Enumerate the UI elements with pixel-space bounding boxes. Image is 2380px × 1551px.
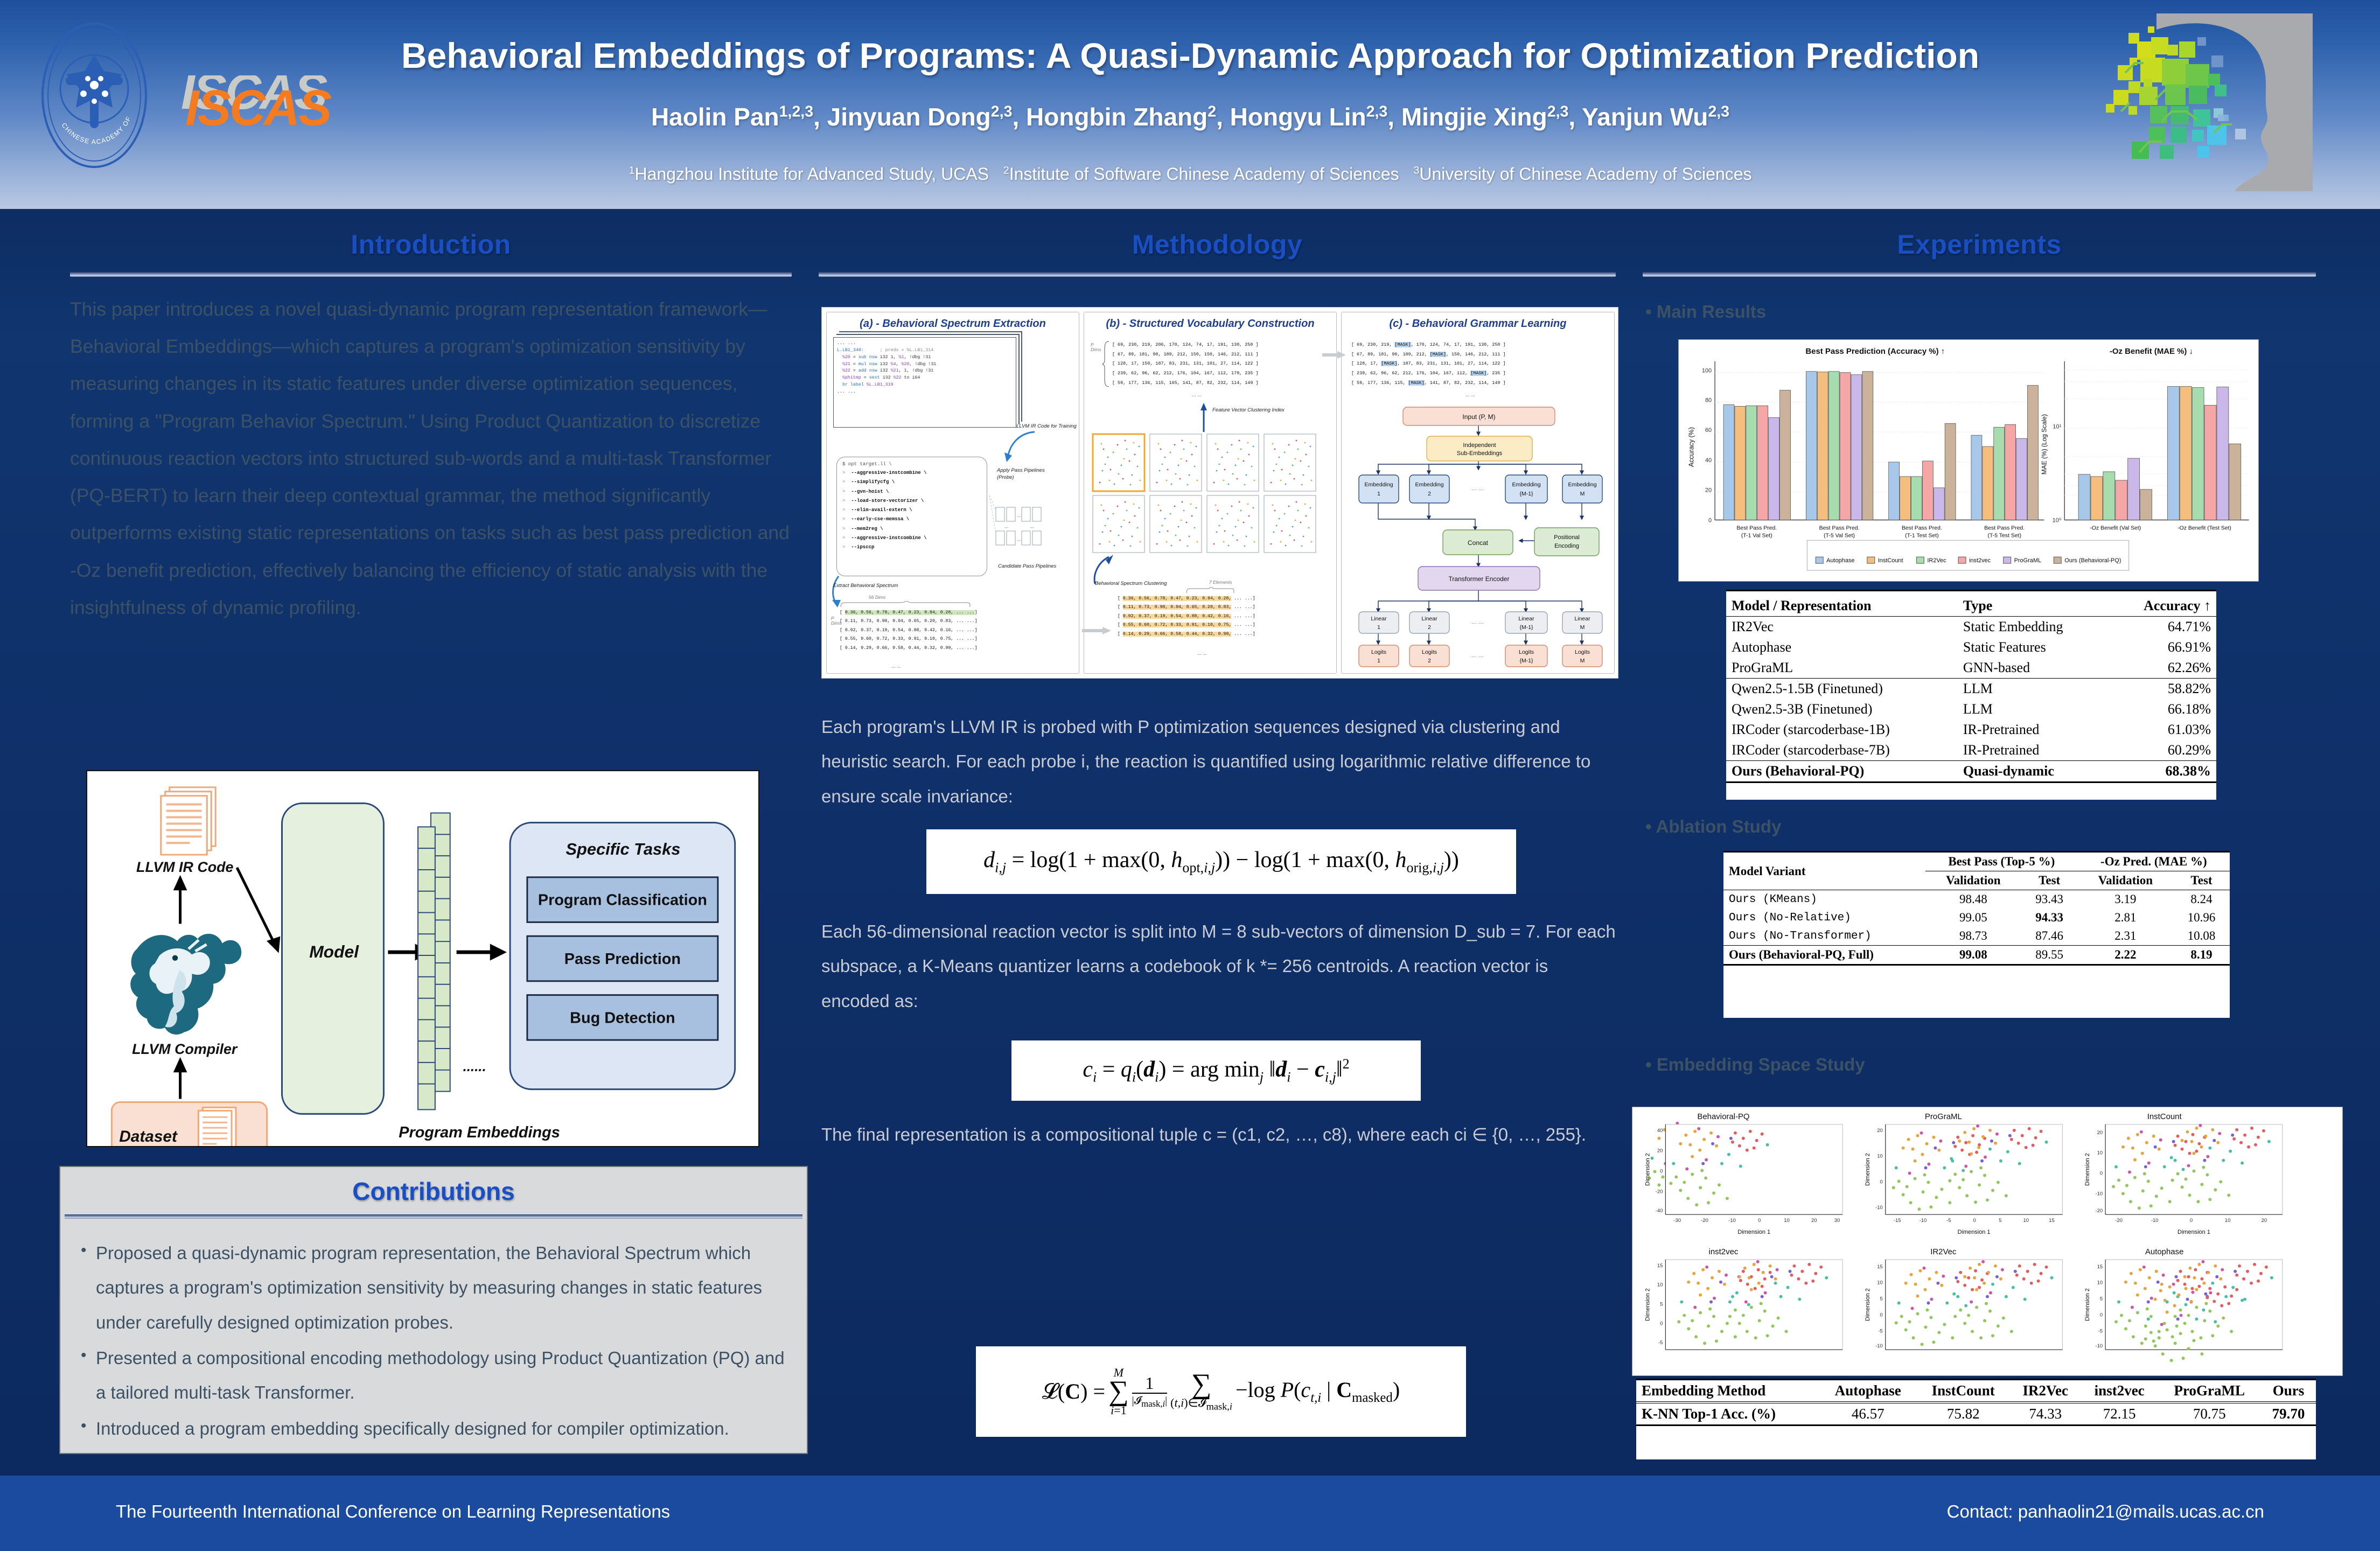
- table-row: AutophaseStatic Features66.91%: [1726, 637, 2216, 658]
- chart2-ylabel: MAE (%) (Log Scale): [2040, 414, 2048, 474]
- knn-table-panel: Embedding Method Autophase InstCount IR2…: [1636, 1379, 2316, 1459]
- svg-text:InstCount: InstCount: [2147, 1112, 2182, 1121]
- panel-b-ellipsis-bottom: ... ...: [1197, 651, 1207, 656]
- label-llvm-compiler: LLVM Compiler: [132, 1041, 238, 1057]
- methodology-panel-c: (c) - Behavioral Grammar Learning [ 69, …: [1341, 312, 1615, 674]
- table-row-highlight: Ours (Behavioral-PQ) Quasi-dynamic 68.38…: [1726, 761, 2216, 783]
- methodology-text-2: Each 56-dimensional reaction vector is s…: [821, 914, 1618, 1018]
- svg-text:15: 15: [2097, 1264, 2103, 1270]
- formula-loss: 𝓛(C) = M ∑ i=1 1 |𝓘mask,i| ∑ (t,i)∈𝓘mask…: [976, 1346, 1466, 1437]
- svg-text:Logits: Logits: [1575, 649, 1590, 655]
- svg-text:60: 60: [1705, 427, 1712, 434]
- svg-text:Dimension 1: Dimension 1: [2177, 1229, 2210, 1235]
- svg-text:Best Pass Pred.: Best Pass Pred.: [1819, 525, 1860, 531]
- svg-text:IR2Vec: IR2Vec: [1930, 1247, 1957, 1256]
- svg-text:10: 10: [1877, 1154, 1883, 1159]
- table-row: IRCoder (starcoderbase-7B)IR-Pretrained6…: [1726, 740, 2216, 761]
- methodology-panel-a: (a) - Behavioral Spectrum Extraction ...…: [826, 312, 1079, 674]
- arrow-cluster-index: [1198, 402, 1209, 432]
- svg-text:10: 10: [2097, 1280, 2103, 1286]
- svg-text:0: 0: [1880, 1179, 1883, 1185]
- task-item-program-classification: Program Classification: [527, 877, 718, 923]
- svg-text:ProGraML: ProGraML: [2014, 557, 2041, 564]
- contributions-panel: Contributions Proposed a quasi-dynamic p…: [59, 1166, 808, 1454]
- arrow-embeddings-to-tasks: [457, 947, 503, 958]
- panel-c-title: (c) - Behavioral Grammar Learning: [1342, 318, 1614, 330]
- table-row: Qwen2.5-1.5B (Finetuned)LLM58.82%: [1726, 679, 2216, 699]
- list-item: Proposed a quasi-dynamic program represe…: [76, 1236, 787, 1340]
- svg-text:10: 10: [1784, 1218, 1790, 1224]
- svg-text:Autophase: Autophase: [2145, 1247, 2183, 1256]
- svg-text:5: 5: [1999, 1218, 2001, 1224]
- svg-text:{M-1}: {M-1}: [1519, 491, 1533, 497]
- svg-text:inst2vec: inst2vec: [1969, 557, 1991, 564]
- panel-b-vocab-rows: [ 69, 230, 219, 206, 170, 124, 74, 17, 1…: [1112, 340, 1258, 388]
- contributions-title: Contributions: [60, 1177, 807, 1206]
- arrow-bc-link: [1322, 351, 1347, 359]
- col-header-prograML: ProGraML: [2158, 1380, 2261, 1402]
- svg-text:M: M: [1580, 491, 1585, 497]
- col-header-test-1: Test: [2021, 871, 2078, 890]
- svg-text:Dimension 2: Dimension 2: [1645, 1288, 1651, 1321]
- col-group-best-pass: Best Pass (Top-5 %): [1925, 853, 2078, 871]
- brace-7elements: [1184, 587, 1238, 593]
- tsne-grid-svg: Behavioral-PQ Dimension 2 Dimension 1 -3…: [1632, 1107, 2342, 1375]
- svg-text:(T-1 Test Set): (T-1 Test Set): [1905, 533, 1938, 539]
- svg-text:Dimension 1: Dimension 1: [1737, 1229, 1770, 1235]
- table-row: ProGraMLGNN-based62.26%: [1726, 658, 2216, 679]
- col-header-ours: Ours: [2261, 1380, 2316, 1402]
- col-header-val-2: Validation: [2078, 871, 2173, 890]
- experiments-bullet-ablation-study: Ablation Study: [1645, 816, 1781, 837]
- iscas-logo: ISCAS ISCAS: [178, 75, 350, 137]
- svg-text:0: 0: [2100, 1312, 2103, 1318]
- svg-text:Logits: Logits: [1371, 649, 1386, 655]
- label-model: Model: [309, 942, 359, 961]
- svg-text:-Oz Benefit (Val Set): -Oz Benefit (Val Set): [2090, 525, 2141, 531]
- svg-text:20: 20: [1657, 1148, 1663, 1154]
- svg-text:M: M: [1580, 624, 1585, 631]
- svg-text:15: 15: [1657, 1263, 1663, 1269]
- svg-text:-20: -20: [1656, 1189, 1663, 1194]
- knn-table: Embedding Method Autophase InstCount IR2…: [1636, 1379, 2316, 1426]
- experiments-bullet-embedding-space: Embedding Space Study: [1645, 1054, 1865, 1075]
- svg-text:Linear: Linear: [1371, 616, 1387, 622]
- chart1-ylabel: Accuracy (%): [1687, 427, 1695, 467]
- methodology-text-3: The final representation is a compositio…: [821, 1117, 1618, 1152]
- col-header-type: Type: [1958, 596, 2110, 617]
- author-list: Haolin Pan1,2,3, Jinyuan Dong2,3, Hongbi…: [345, 102, 2036, 131]
- section-heading-experiments: Experiments: [1643, 229, 2316, 260]
- panel-b-ellipsis-top: ... ...: [1192, 392, 1202, 397]
- col-header-val-1: Validation: [1925, 871, 2021, 890]
- footer-contact: Contact: panhaolin21@mails.ucas.ac.cn: [1947, 1501, 2264, 1522]
- list-item: Presented a compositional encoding metho…: [76, 1341, 787, 1410]
- list-item: Introduced a program embedding specifica…: [76, 1412, 787, 1446]
- poster-root: CHINESE ACADEMY OF SCIENCES ISCAS ISCAS: [0, 0, 2380, 1551]
- svg-text:IR2Vec: IR2Vec: [1927, 557, 1946, 564]
- svg-text:5: 5: [1660, 1302, 1663, 1308]
- svg-text:{M-1}: {M-1}: [1519, 658, 1533, 664]
- svg-text:2: 2: [1428, 658, 1431, 664]
- panel-a-title: (a) - Behavioral Spectrum Extraction: [827, 318, 1079, 330]
- svg-text:M: M: [1580, 658, 1585, 664]
- methodology-panel-b: (b) - Structured Vocabulary Construction…: [1084, 312, 1337, 674]
- panel-c-ellipsis: ... ...: [1465, 392, 1475, 397]
- affiliation-list: 1Hangzhou Institute for Advanced Study, …: [345, 164, 2036, 184]
- methodology-text-1: Each program's LLVM IR is probed with P …: [821, 710, 1618, 814]
- svg-text:Dimension 1: Dimension 1: [1958, 1229, 1991, 1235]
- svg-text:10: 10: [1877, 1280, 1883, 1286]
- panel-a-extract-label: Extract Behavioral Spectrum: [833, 583, 925, 589]
- svg-text:-20: -20: [1701, 1218, 1708, 1224]
- svg-text:Dimension 2: Dimension 2: [1645, 1153, 1651, 1186]
- llvm-dragon-icon: [130, 934, 241, 1035]
- svg-text:Independent: Independent: [1463, 442, 1496, 449]
- svg-text:1: 1: [1377, 658, 1380, 664]
- task-item-pass-prediction: Pass Prediction: [527, 936, 718, 981]
- chart2-group-2: [2167, 387, 2241, 520]
- svg-text:0: 0: [1660, 1169, 1663, 1175]
- svg-text:Best Pass Pred.: Best Pass Pred.: [1902, 525, 1942, 531]
- col-header-ir2vec: IR2Vec: [2010, 1380, 2081, 1402]
- main-results-table: Model / Representation Type Accuracy ↑ I…: [1726, 590, 2216, 783]
- row-label-knn: K-NN Top-1 Acc. (%): [1636, 1403, 1819, 1426]
- svg-text:Logits: Logits: [1519, 649, 1534, 655]
- svg-text:0: 0: [1708, 517, 1712, 523]
- svg-text:-5: -5: [2098, 1328, 2103, 1334]
- svg-text:1: 1: [1377, 491, 1380, 497]
- svg-text:Input (P, M): Input (P, M): [1462, 413, 1495, 421]
- contributions-list: Proposed a quasi-dynamic program represe…: [76, 1236, 787, 1447]
- svg-text:Transformer Encoder: Transformer Encoder: [1449, 575, 1510, 583]
- methodology-figure-panel: (a) - Behavioral Spectrum Extraction ...…: [821, 307, 1618, 679]
- svg-text:20: 20: [1705, 487, 1712, 494]
- svg-text:Autophase: Autophase: [1826, 557, 1854, 564]
- page-title: Behavioral Embeddings of Programs: A Qua…: [345, 37, 2036, 75]
- svg-text:Pass Prediction: Pass Prediction: [564, 951, 681, 968]
- svg-text:-5: -5: [1946, 1218, 1951, 1224]
- main-results-chart: Best Pass Prediction (Accuracy %) ↑ 0204…: [1678, 339, 2259, 582]
- svg-text:Dimension 2: Dimension 2: [1865, 1288, 1871, 1321]
- tsne-panel-ir2vec: IR2Vec Dimension 2 15105 0-5-10: [1865, 1247, 2063, 1350]
- col-header-instcount: InstCount: [1917, 1380, 2010, 1402]
- divider-contributions: [65, 1214, 802, 1219]
- divider-methodology: [819, 272, 1616, 277]
- svg-text:Program Classification: Program Classification: [538, 892, 707, 909]
- divider-experiments: [1643, 272, 2316, 277]
- svg-text:-20: -20: [2115, 1218, 2123, 1224]
- svg-text:Best Pass Pred.: Best Pass Pred.: [1984, 525, 2025, 531]
- formula-reaction-difference: di,j = log(1 + max(0, hopt,i,j)) − log(1…: [926, 829, 1516, 894]
- brace-56dims: [837, 601, 978, 607]
- svg-text:20: 20: [2262, 1218, 2267, 1224]
- dataset-doc-icon: [198, 1107, 236, 1146]
- section-heading-methodology: Methodology: [819, 229, 1616, 260]
- table-header-row: Embedding Method Autophase InstCount IR2…: [1636, 1380, 2316, 1402]
- chart-legend: Autophase InstCount IR2Vec inst2vec ProG…: [1807, 540, 2128, 570]
- panel-c-architecture: Input (P, M) Independent Sub-Embeddings …: [1348, 405, 1609, 671]
- svg-text:-40: -40: [1656, 1208, 1663, 1214]
- svg-text:20: 20: [1877, 1128, 1883, 1134]
- svg-text:...: ...: [1017, 513, 1021, 518]
- svg-text:0: 0: [1880, 1312, 1883, 1318]
- svg-text:Linear: Linear: [1421, 616, 1437, 622]
- svg-text:Positional: Positional: [1554, 534, 1580, 541]
- panel-b-cluster-label: Behavioral Spectrum Clustering: [1095, 581, 1197, 586]
- svg-text:(T-5 Val Set): (T-5 Val Set): [1824, 533, 1855, 539]
- table-row: Ours (No-Transformer) 98.73 87.46 2.31 1…: [1723, 927, 2230, 946]
- svg-text:10¹: 10¹: [2053, 423, 2061, 430]
- col-header-autophase: Autophase: [1819, 1380, 1917, 1402]
- pipeline-figure-panel: LLVM IR Code LLVM Compiler: [86, 770, 759, 1147]
- arrow-dataset-to-compiler: [176, 1060, 185, 1099]
- arrow-ab-link: [1082, 627, 1112, 634]
- poster-footer: The Fourteenth International Conference …: [0, 1476, 2380, 1551]
- experiments-bullet-main-results: Main Results: [1645, 302, 1766, 322]
- formula-quantizer: ci = qi(di) = arg minj ‖di − ci,j‖2: [1011, 1040, 1421, 1101]
- svg-text:0: 0: [2190, 1218, 2193, 1224]
- arrow-ir-to-model: [237, 868, 279, 950]
- tsne-panel-inst2vec: inst2vec Dimension 2 15105 0-5: [1645, 1247, 1843, 1350]
- svg-text:Sub-Embeddings: Sub-Embeddings: [1457, 450, 1503, 457]
- svg-text:...: ...: [1004, 523, 1009, 529]
- panel-a-ellipsis: ... ...: [891, 663, 901, 669]
- svg-text:20: 20: [2097, 1130, 2103, 1136]
- svg-text:100: 100: [1702, 368, 1712, 374]
- svg-text:20: 20: [1811, 1218, 1817, 1224]
- svg-text:-10: -10: [2095, 1343, 2103, 1349]
- svg-text:Encoding: Encoding: [1554, 543, 1579, 549]
- svg-text:0: 0: [2100, 1170, 2103, 1176]
- cas-logo: CHINESE ACADEMY OF SCIENCES: [40, 22, 148, 170]
- tsne-panel-prograML: ProGraML Dimension 2 Dimension 1 -15-10-…: [1865, 1112, 2063, 1235]
- panel-b-spectrum-rows: [ 0.36, 0.56, 0.78, 0.47, 0.23, 0.94, 0.…: [1118, 595, 1255, 639]
- bar-charts-svg: Best Pass Prediction (Accuracy %) ↑ 0204…: [1679, 340, 2258, 581]
- label-dataset-ext: .c: [239, 1143, 251, 1146]
- svg-text:10: 10: [1657, 1282, 1663, 1288]
- divider-introduction: [70, 272, 792, 277]
- svg-text:-Oz Benefit (Test Set): -Oz Benefit (Test Set): [2177, 525, 2231, 531]
- panel-a-spectrum-rows: [ 0.36, 0.56, 0.78, 0.47, 0.23, 0.94, 0.…: [840, 609, 978, 653]
- pipeline-figure: LLVM IR Code LLVM Compiler: [87, 771, 758, 1146]
- svg-text:40: 40: [1705, 457, 1712, 464]
- svg-text:Linear: Linear: [1518, 616, 1534, 622]
- svg-text:(T-1 Val Set): (T-1 Val Set): [1741, 533, 1772, 539]
- task-item-bug-detection: Bug Detection: [527, 995, 718, 1040]
- svg-text:1: 1: [1377, 624, 1380, 631]
- embedding-space-charts: Behavioral-PQ Dimension 2 Dimension 1 -3…: [1632, 1107, 2343, 1376]
- svg-text:Dimension 2: Dimension 2: [2084, 1288, 2091, 1321]
- svg-text:(T-5 Test Set): (T-5 Test Set): [1987, 533, 2021, 539]
- table-row: Ours (KMeans) 98.48 93.43 3.19 8.24: [1723, 890, 2230, 909]
- svg-text:...: ...: [1030, 523, 1035, 529]
- svg-text:-10: -10: [1728, 1218, 1736, 1224]
- svg-text:Embedding: Embedding: [1512, 481, 1540, 488]
- dataset-box: Dataset .c: [111, 1102, 267, 1146]
- brace-pdims-b: [1101, 340, 1110, 388]
- svg-text:Linear: Linear: [1574, 616, 1590, 622]
- col-header-embedding-method: Embedding Method: [1636, 1380, 1819, 1402]
- chart2-xticks: -Oz Benefit (Val Set) -Oz Benefit (Test …: [2090, 525, 2231, 531]
- svg-text:-10: -10: [1875, 1205, 1883, 1211]
- table-row: Ours (No-Relative) 99.05 94.33 2.81 10.9…: [1723, 909, 2230, 927]
- main-results-table-panel: Model / Representation Type Accuracy ↑ I…: [1726, 590, 2216, 800]
- svg-text:ISCAS: ISCAS: [185, 80, 332, 136]
- panel-a-dims-label: 56 Dims: [869, 595, 885, 600]
- chart1-group-2: [1806, 372, 1873, 520]
- svg-text:inst2vec: inst2vec: [1709, 1247, 1739, 1256]
- svg-text:10: 10: [2023, 1218, 2029, 1224]
- svg-text:··· ···: ··· ···: [1471, 654, 1484, 660]
- poster-header: CHINESE ACADEMY OF SCIENCES ISCAS ISCAS: [0, 0, 2380, 209]
- svg-text:40: 40: [1657, 1128, 1663, 1134]
- svg-text:··· ···: ··· ···: [1471, 487, 1484, 493]
- tsne-panel-instcount: InstCount Dimension 2 Dimension 1 -20-10…: [2084, 1112, 2283, 1235]
- label-embeddings-ellipsis: ......: [463, 1059, 486, 1074]
- tsne-panel-behavioral-pq: Behavioral-PQ Dimension 2 Dimension 1 -3…: [1645, 1112, 1843, 1235]
- svg-text:0: 0: [1973, 1218, 1976, 1224]
- svg-text:30: 30: [1834, 1218, 1840, 1224]
- svg-text:5: 5: [1880, 1296, 1883, 1302]
- chart1-group-4: [1971, 386, 2038, 520]
- svg-text:Embedding: Embedding: [1364, 481, 1393, 488]
- label-llvm-ir-code: LLVM IR Code: [136, 859, 233, 875]
- col-group-oz-pred: -Oz Pred. (MAE %): [2078, 853, 2230, 871]
- panel-a-ir-code: ... ... L.LB1_349: ; preds = %L.LB1_314 …: [834, 338, 1016, 399]
- svg-text:InstCount: InstCount: [1878, 557, 1903, 564]
- svg-text:2: 2: [1428, 491, 1431, 497]
- chart1-group-3: [1889, 423, 1956, 520]
- svg-text:{M-1}: {M-1}: [1519, 624, 1533, 631]
- col-header-inst2vec: inst2vec: [2081, 1380, 2158, 1402]
- table-row: IR2VecStatic Embedding64.71%: [1726, 617, 2216, 637]
- llvm-ir-doc-icon: [161, 787, 215, 855]
- svg-text:...: ...: [1017, 536, 1021, 542]
- candidate-pipeline-boxes: ... ... ... ...: [988, 490, 1074, 560]
- svg-text:Behavioral-PQ: Behavioral-PQ: [1697, 1112, 1749, 1121]
- iclr-logo: [2081, 13, 2313, 197]
- svg-text:10⁰: 10⁰: [2053, 517, 2062, 523]
- svg-text:15: 15: [1877, 1264, 1883, 1270]
- svg-text:Ours (Behavioral-PQ): Ours (Behavioral-PQ): [2064, 557, 2121, 564]
- panel-a-candidate-label: Candidate Pass Pipelines: [998, 563, 1068, 569]
- svg-text:10: 10: [2225, 1218, 2231, 1224]
- svg-text:-15: -15: [1894, 1218, 1901, 1224]
- svg-text:0: 0: [1758, 1218, 1761, 1224]
- introduction-paragraph: This paper introduces a novel quasi-dyna…: [70, 291, 792, 626]
- footer-conference: The Fourteenth International Conference …: [116, 1501, 670, 1522]
- svg-text:-30: -30: [1673, 1218, 1681, 1224]
- table-row-highlight: Ours (Behavioral-PQ, Full) 99.08 89.55 2…: [1723, 946, 2230, 965]
- panel-c-masked-rows: [ 69, 230, 219, [MASK], 170, 124, 74, 17…: [1351, 340, 1506, 388]
- svg-text:5: 5: [2100, 1296, 2103, 1302]
- svg-text:Best Pass Pred.: Best Pass Pred.: [1736, 525, 1777, 531]
- svg-text:··· ···: ··· ···: [1471, 620, 1484, 626]
- chart2-title: -Oz Benefit (MAE %) ↓: [2110, 347, 2193, 356]
- svg-text:-5: -5: [1878, 1328, 1882, 1334]
- ablation-table-panel: Model Variant Best Pass (Top-5 %) -Oz Pr…: [1723, 851, 2230, 1018]
- panel-b-elements-label: 7 Elements: [1209, 579, 1232, 585]
- cluster-thumbnails: [1092, 433, 1329, 555]
- svg-text:ProGraML: ProGraML: [1925, 1112, 1962, 1121]
- label-program-embeddings: Program Embeddings: [399, 1124, 560, 1141]
- svg-text:-10: -10: [2095, 1191, 2103, 1197]
- svg-text:10: 10: [2097, 1150, 2103, 1156]
- chart1-xticks: Best Pass Pred.(T-1 Val Set) Best Pass P…: [1736, 525, 2025, 539]
- section-heading-introduction: Introduction: [70, 229, 792, 260]
- arrow-compiler-to-ir: [176, 878, 185, 924]
- panel-a-apply-label: Apply Pass Pipelines (Probe): [997, 467, 1057, 481]
- arrow-ir-to-opt: [1003, 430, 1041, 463]
- table-header-row: Model / Representation Type Accuracy ↑: [1726, 596, 2216, 617]
- svg-text:15: 15: [2049, 1218, 2055, 1224]
- svg-text:Logits: Logits: [1422, 649, 1437, 655]
- chart1-title: Best Pass Prediction (Accuracy %) ↑: [1805, 347, 1945, 356]
- col-header-model: Model / Representation: [1726, 596, 1958, 617]
- panel-b-title: (b) - Structured Vocabulary Construction: [1084, 318, 1336, 330]
- svg-text:Dimension 2: Dimension 2: [1865, 1153, 1871, 1186]
- svg-text:2: 2: [1428, 624, 1431, 631]
- chart1-group-1: [1723, 390, 1790, 520]
- chart2-group-1: [2078, 458, 2152, 520]
- label-specific-tasks: Specific Tasks: [566, 840, 680, 858]
- svg-text:Embedding: Embedding: [1568, 481, 1596, 488]
- label-dataset: Dataset: [119, 1128, 178, 1145]
- svg-text:Dimension 2: Dimension 2: [2084, 1153, 2091, 1186]
- svg-text:80: 80: [1705, 397, 1712, 403]
- tsne-panel-autophase: Autophase Dimension 2 15105 0-5-10: [2084, 1247, 2283, 1362]
- svg-text:0: 0: [1660, 1321, 1663, 1326]
- svg-text:Bug Detection: Bug Detection: [570, 1009, 675, 1026]
- panel-a-opt-command: $ opt target.ll \ > --aggressive-instcom…: [836, 457, 987, 576]
- chart1-yticks: 02040 6080100: [1702, 368, 1712, 524]
- panel-b-index-label: Feature Vector Clustering Index: [1212, 407, 1285, 413]
- svg-text:Concat: Concat: [1468, 539, 1489, 547]
- svg-text:-20: -20: [2095, 1208, 2103, 1214]
- col-header-test-2: Test: [2173, 871, 2230, 890]
- table-row: Qwen2.5-3B (Finetuned)LLM66.18%: [1726, 699, 2216, 719]
- table-row: IRCoder (starcoderbase-1B)IR-Pretrained6…: [1726, 719, 2216, 740]
- svg-text:-10: -10: [2151, 1218, 2159, 1224]
- col-header-accuracy: Accuracy ↑: [2110, 596, 2217, 617]
- svg-text:-10: -10: [1875, 1343, 1883, 1349]
- ablation-table: Model Variant Best Pass (Top-5 %) -Oz Pr…: [1723, 851, 2230, 966]
- svg-text:-5: -5: [1658, 1340, 1663, 1346]
- panel-b-pdims-label: PDims: [1091, 343, 1101, 353]
- panel-a-ir-caption: LLVM IR Code for Training: [1016, 423, 1077, 429]
- svg-text:Embedding: Embedding: [1415, 481, 1443, 488]
- chart2-yticks: 10⁰10¹: [2053, 423, 2062, 523]
- table-row: K-NN Top-1 Acc. (%) 46.57 75.82 74.33 72…: [1636, 1403, 2316, 1426]
- svg-text:-10: -10: [1920, 1218, 1927, 1224]
- embedding-vector-2: [418, 827, 435, 1109]
- col-header-model-variant: Model Variant: [1723, 853, 1925, 890]
